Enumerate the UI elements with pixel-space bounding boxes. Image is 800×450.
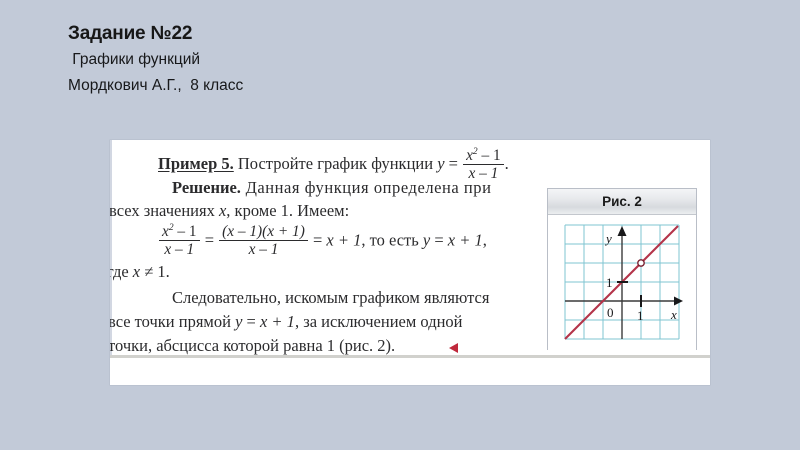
conclusion-text-a: все точки прямой <box>110 312 235 331</box>
equation-left-num-base: x <box>162 223 169 240</box>
display-equation: x2 – 1x – 1 = (x – 1)(x + 1)x – 1 = x + … <box>158 224 487 257</box>
slide-subtitle-topic: Графики функций <box>68 51 768 68</box>
example-intro-text: Постройте график функции <box>234 154 437 173</box>
conclusion-line-1: Следовательно, искомым графиком являются <box>172 288 489 308</box>
equation-result-expression: x + 1 <box>448 231 483 250</box>
where-clause-line: где x ≠ 1. <box>110 262 170 282</box>
domain-text-a: всех значениях <box>110 201 219 220</box>
example-fraction-numerator: x2 – 1 <box>463 148 504 164</box>
equation-equals-2: = <box>309 231 327 250</box>
slide-canvas: Задание №22 Графики функций Мордкович А.… <box>0 0 800 450</box>
figure-plot-area: y x 1 0 1 <box>548 215 696 351</box>
example-label: Пример 5. <box>158 154 234 173</box>
equation-result-equals: = <box>430 231 448 250</box>
equation-right-side: x + 1 <box>326 231 361 250</box>
textbook-scan-panel: Пример 5. Постройте график функции y = x… <box>110 140 710 385</box>
page-title: Задание №22 <box>68 24 768 45</box>
equation-mid-fraction: (x – 1)(x + 1)x – 1 <box>219 224 308 257</box>
example-equals: = <box>445 154 463 173</box>
equation-left-fraction: x2 – 1x – 1 <box>159 224 200 257</box>
equation-left-denominator: x – 1 <box>159 240 200 258</box>
x-tick-label-1: 1 <box>637 308 644 323</box>
figure-caption: Рис. 2 <box>548 189 696 215</box>
red-triangle-marker-icon <box>449 343 458 353</box>
equation-mid-numerator: (x – 1)(x + 1) <box>219 224 308 240</box>
example-num-tail: – 1 <box>478 147 501 164</box>
equation-left-numerator: x2 – 1 <box>159 224 200 240</box>
where-relation: ≠ 1. <box>140 262 170 281</box>
graph-svg: y x 1 0 1 <box>561 221 685 343</box>
domain-line: всех значениях x, кроме 1. Имеем: <box>110 201 349 221</box>
slide-subtitle-source: Мордкович А.Г., 8 класс <box>68 77 768 94</box>
example-num-base: x <box>466 147 473 164</box>
solution-heading-line: Решение. Данная функция определена при <box>172 178 491 198</box>
y-tick-label-1: 1 <box>606 275 613 290</box>
example-heading-line: Пример 5. Постройте график функции y = x… <box>158 148 509 181</box>
example-period: . <box>505 154 509 173</box>
domain-text-b: , кроме 1. Имеем: <box>226 201 349 220</box>
solution-intro-text: Данная функция определена при <box>241 178 492 197</box>
equation-mid-denominator: x – 1 <box>219 240 308 258</box>
example-fraction: x2 – 1x – 1 <box>463 148 504 181</box>
conclusion-line-3: точки, абсцисса которой равна 1 (рис. 2)… <box>110 336 395 356</box>
excluded-point-open-circle <box>638 260 644 266</box>
conclusion-expression: x + 1 <box>260 312 295 331</box>
conclusion-text-b: , за исключением одной <box>295 312 463 331</box>
conclusion-equals: = <box>242 312 260 331</box>
figure-panel: Рис. 2 <box>547 188 697 350</box>
y-axis-label: y <box>604 231 612 246</box>
equation-tail-text: , то есть <box>361 231 423 250</box>
equation-left-num-tail: – 1 <box>174 223 197 240</box>
solution-label: Решение. <box>172 178 241 197</box>
example-var-y: y <box>437 154 444 173</box>
equation-equals-1: = <box>201 231 219 250</box>
conclusion-line-2: все точки прямой y = x + 1, за исключени… <box>110 312 463 332</box>
where-prefix: где <box>110 262 133 281</box>
x-axis-label: x <box>670 307 677 322</box>
equation-result-comma: , <box>483 231 487 250</box>
origin-label: 0 <box>607 305 614 320</box>
slide-header: Задание №22 Графики функций Мордкович А.… <box>68 24 768 94</box>
